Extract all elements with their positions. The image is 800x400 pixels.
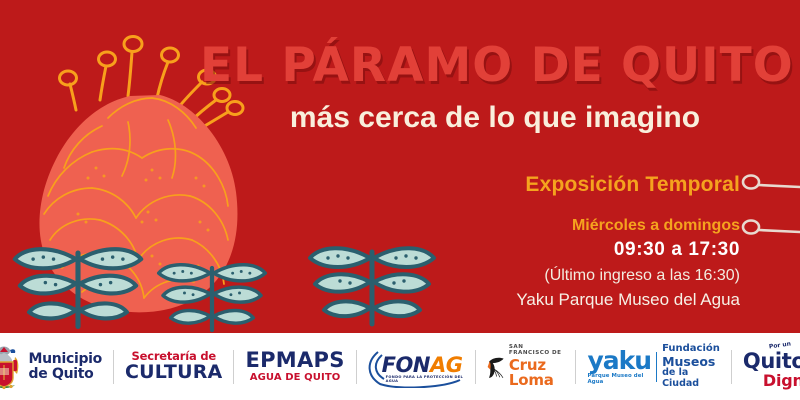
- sponsor-logo-bar: Municipio de Quito Secretaría de CULTURA…: [0, 333, 800, 400]
- epmaps-line1: EPMAPS: [245, 350, 344, 371]
- poster-canvas: EL PÁRAMO DE QUITO más cerca de lo que i…: [0, 0, 800, 400]
- fonag-tagline: FONDO PARA LA PROTECCIÓN DEL AGUA: [386, 375, 464, 383]
- logo-yaku-fundacion-museos: yaku Parque Museo del Agua Fundación Mus…: [576, 344, 730, 390]
- headline-block: EL PÁRAMO DE QUITO más cerca de lo que i…: [200, 42, 790, 134]
- event-info-block: Exposición Temporal Miércoles a domingos…: [320, 172, 740, 310]
- opening-hours: 09:30 a 17:30: [320, 239, 740, 262]
- stamen-pin-icon-bottom: [740, 219, 800, 239]
- yaku-tagline: Parque Museo del Agua: [587, 374, 651, 385]
- exhibition-label: Exposición Temporal: [320, 172, 740, 197]
- logo-fonag: FONAG FONDO PARA LA PROTECCIÓN DEL AGUA: [357, 344, 475, 390]
- logo-municipio-de-quito: Municipio de Quito: [0, 344, 113, 390]
- logo-quito-digno: Por un Quito Digno: [732, 344, 800, 390]
- quito-digno-line1: Quito: [743, 351, 800, 372]
- logo-secretaria-de-cultura: Secretaría de CULTURA: [114, 344, 233, 390]
- opening-days: Miércoles a domingos: [320, 216, 740, 235]
- municipio-line2: de Quito: [28, 367, 102, 382]
- leaf-cluster-middle: [159, 265, 266, 330]
- page-title: EL PÁRAMO DE QUITO: [200, 42, 790, 89]
- venue-name: Yaku Parque Museo del Agua: [320, 289, 740, 310]
- quito-digno-line2: Digno: [763, 373, 800, 389]
- cruz-loma-line1: SAN FRANCISCO DE: [509, 345, 565, 356]
- municipio-line1: Municipio: [28, 352, 102, 367]
- cruz-loma-line2: Cruz Loma: [509, 358, 565, 388]
- fundacion-line2: Museos: [662, 355, 720, 369]
- logo-epmaps: EPMAPS AGUA DE QUITO: [234, 344, 355, 390]
- cruz-loma-mountain-icon: [487, 349, 506, 385]
- yaku-wordmark: yaku: [587, 348, 651, 373]
- stamen-pin-icon-top: [740, 174, 800, 194]
- leaf-cluster-left: [15, 249, 141, 326]
- fonag-part2: AG: [430, 353, 463, 377]
- fundacion-line3: de la Ciudad: [662, 368, 720, 389]
- logo-cruz-loma: SAN FRANCISCO DE Cruz Loma: [476, 344, 576, 390]
- epmaps-line2: AGUA DE QUITO: [245, 373, 344, 383]
- fonag-part1: FON: [382, 353, 430, 377]
- quito-coat-of-arms-icon: [0, 344, 23, 390]
- yaku-divider: [656, 352, 657, 382]
- last-entry-note: (Último ingreso a las 16:30): [320, 266, 740, 286]
- page-subtitle: más cerca de lo que imagino: [200, 101, 790, 134]
- cultura-line2: CULTURA: [125, 363, 222, 382]
